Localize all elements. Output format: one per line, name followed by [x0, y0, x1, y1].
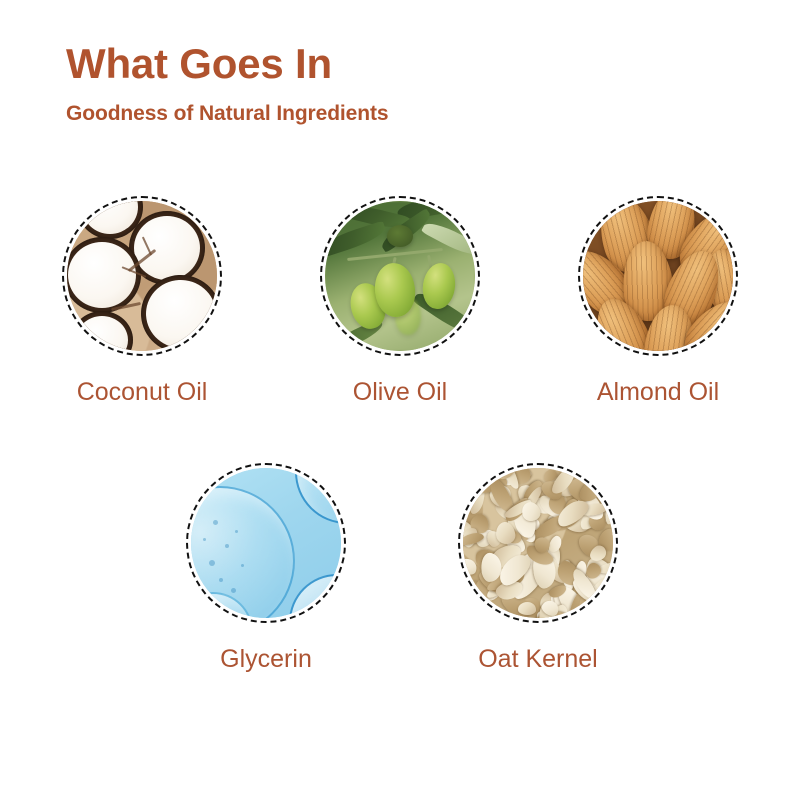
ingredient-row-2: Glycerin Oat Kernel	[0, 463, 800, 674]
dashed-ring-icon	[186, 463, 346, 623]
header-block: What Goes In Goodness of Natural Ingredi…	[66, 42, 388, 126]
glycerin-circle[interactable]	[186, 463, 346, 623]
ingredient-item-almond-oil[interactable]: Almond Oil	[574, 196, 742, 407]
ingredient-item-glycerin[interactable]: Glycerin	[182, 463, 350, 674]
page-title: What Goes In	[66, 42, 388, 86]
page-subtitle: Goodness of Natural Ingredients	[66, 102, 388, 126]
ingredient-label-olive-oil: Olive Oil	[353, 378, 447, 407]
ingredient-grid: Coconut Oil	[0, 196, 800, 674]
oat-circle[interactable]	[458, 463, 618, 623]
almond-circle[interactable]	[578, 196, 738, 356]
ingredient-row-1: Coconut Oil	[0, 196, 800, 407]
dashed-ring-icon	[578, 196, 738, 356]
dashed-ring-icon	[320, 196, 480, 356]
ingredient-item-coconut-oil[interactable]: Coconut Oil	[58, 196, 226, 407]
coconut-circle[interactable]	[62, 196, 222, 356]
ingredient-item-oat-kernel[interactable]: Oat Kernel	[454, 463, 622, 674]
ingredient-label-oat-kernel: Oat Kernel	[478, 645, 598, 674]
ingredient-label-glycerin: Glycerin	[220, 645, 312, 674]
ingredient-label-almond-oil: Almond Oil	[597, 378, 719, 407]
ingredient-item-olive-oil[interactable]: Olive Oil	[316, 196, 484, 407]
dashed-ring-icon	[458, 463, 618, 623]
ingredients-infographic: What Goes In Goodness of Natural Ingredi…	[0, 0, 800, 800]
olive-circle[interactable]	[320, 196, 480, 356]
dashed-ring-icon	[62, 196, 222, 356]
ingredient-label-coconut-oil: Coconut Oil	[77, 378, 208, 407]
